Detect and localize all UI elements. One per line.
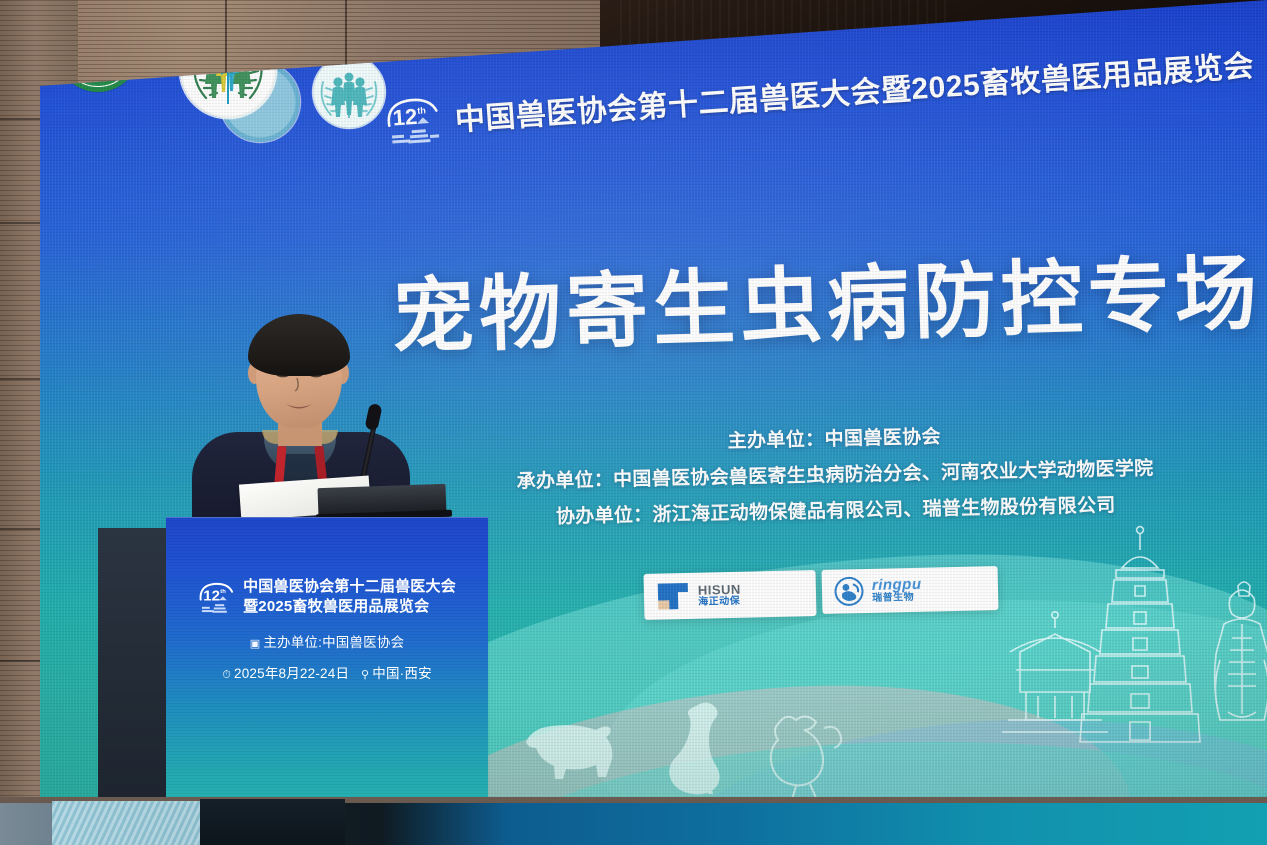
podium-edition-suffix: th <box>220 589 226 595</box>
banner-header-text: 中国兽医协会第十二届兽医大会暨2025畜牧兽医用品展览会 <box>453 41 1255 139</box>
podium: 12 th 中 <box>98 508 488 845</box>
podium-edition-mark-12th-icon: 12 th <box>198 579 236 615</box>
veterinary-emblem-logo-small <box>313 56 385 128</box>
podium-title-line-2: 暨2025畜牧兽医用品展览会 <box>243 597 456 617</box>
sponsor-plate-ringpu: ringpu 瑞普生物 <box>822 566 999 614</box>
podium-branding: 12 th 中 <box>166 577 488 682</box>
stage-shadow-block <box>200 799 345 845</box>
host-organization-line: 主办单位：中国兽医协会 <box>454 416 1214 459</box>
chicken-silhouette-icon <box>771 716 841 800</box>
conference-stage-scene: 12 th 中国兽医协会第十二届兽医大会暨2025畜牧兽医 <box>0 0 1267 845</box>
xian-landmarks-illustration <box>980 520 1267 790</box>
podium-edition-number: 12 <box>203 587 220 604</box>
podium-organizer: ▣主办单位:中国兽医协会 <box>166 631 488 651</box>
edition-suffix: th <box>417 105 426 116</box>
pig-silhouette-icon <box>526 725 612 779</box>
podium-front-panel: 12 th 中 <box>166 517 488 845</box>
clock-icon: ⏱ <box>222 669 231 681</box>
terracotta-warrior-icon <box>1215 582 1267 720</box>
podium-title-line-1: 中国兽医协会第十二届兽医大会 <box>243 577 456 597</box>
ringpu-logo-icon <box>834 576 865 607</box>
podium-organizer-text: 主办单位:中国兽医协会 <box>263 635 404 650</box>
sponsor-plate-hisun: HISUN 海正动保 <box>644 570 817 620</box>
podium-date-text: 2025年8月22-24日 <box>234 666 349 681</box>
organizer-block: 主办单位：中国兽医协会 承办单位：中国兽医协会兽医寄生虫病防治分会、河南农业大学… <box>454 416 1216 531</box>
podium-location-text: 中国·西安 <box>372 666 432 681</box>
small-emblem-icon <box>313 56 385 128</box>
session-title: 宠物寄生虫病防控专场 <box>391 253 1213 362</box>
sponsor-name-en: ringpu <box>872 577 922 594</box>
undertaker-organization-line: 承办单位：中国兽医协会兽医寄生虫病防治分会、河南农业大学动物医学院 <box>455 452 1215 495</box>
hisun-logo-icon <box>656 581 691 612</box>
stage-edge-strip <box>52 801 204 845</box>
edition-mark-12th-icon: 12 th <box>383 92 444 148</box>
podium-meta: ⏱2025年8月22-24日 ⚲中国·西安 <box>166 662 488 682</box>
big-wild-goose-pagoda-icon <box>1080 527 1200 742</box>
building-icon: ▣ <box>250 638 261 650</box>
livestock-silhouettes <box>510 690 910 800</box>
sponsor-name-cn: 海正动保 <box>698 596 741 607</box>
edition-number: 12 <box>392 104 418 131</box>
sponsor-name-cn: 瑞普生物 <box>872 592 922 604</box>
map-pin-icon: ⚲ <box>361 669 369 681</box>
goose-silhouette-icon <box>669 702 719 794</box>
